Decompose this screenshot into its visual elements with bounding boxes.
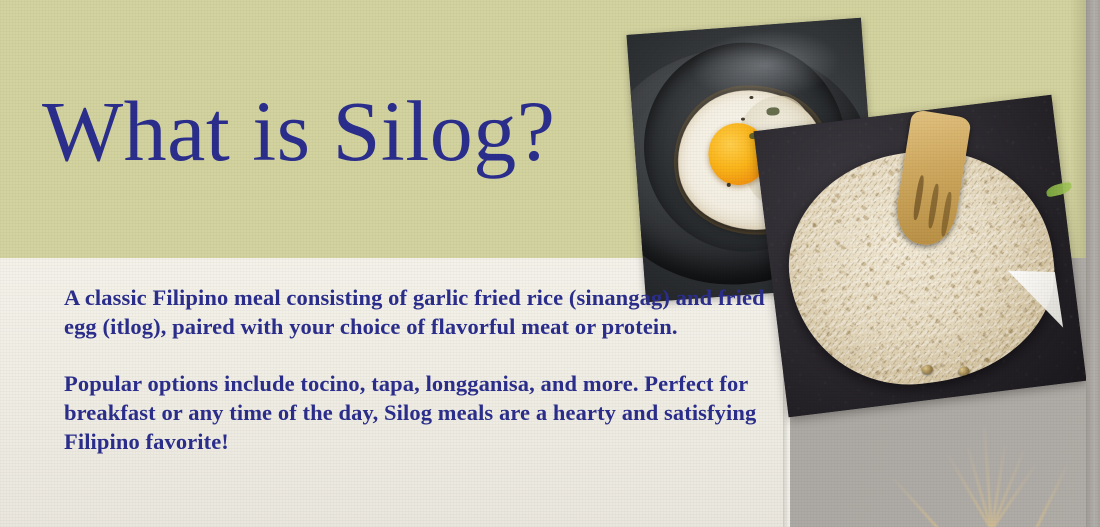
dried-grass-sprig (930, 400, 1080, 527)
body-copy: A classic Filipino meal consisting of ga… (64, 283, 784, 456)
right-edge-strip (1086, 0, 1100, 527)
paragraph-options: Popular options include tocino, tapa, lo… (64, 369, 784, 456)
pepper-fleck (749, 96, 753, 99)
garlic-rice-photo (754, 95, 1087, 417)
paragraph-description: A classic Filipino meal consisting of ga… (64, 283, 784, 341)
sprig-frond (1034, 465, 1068, 527)
green-band-shadow (1070, 0, 1086, 258)
promo-banner: What is Silog? A classic Filipino meal c… (0, 0, 1100, 527)
page-title: What is Silog? (42, 86, 555, 176)
